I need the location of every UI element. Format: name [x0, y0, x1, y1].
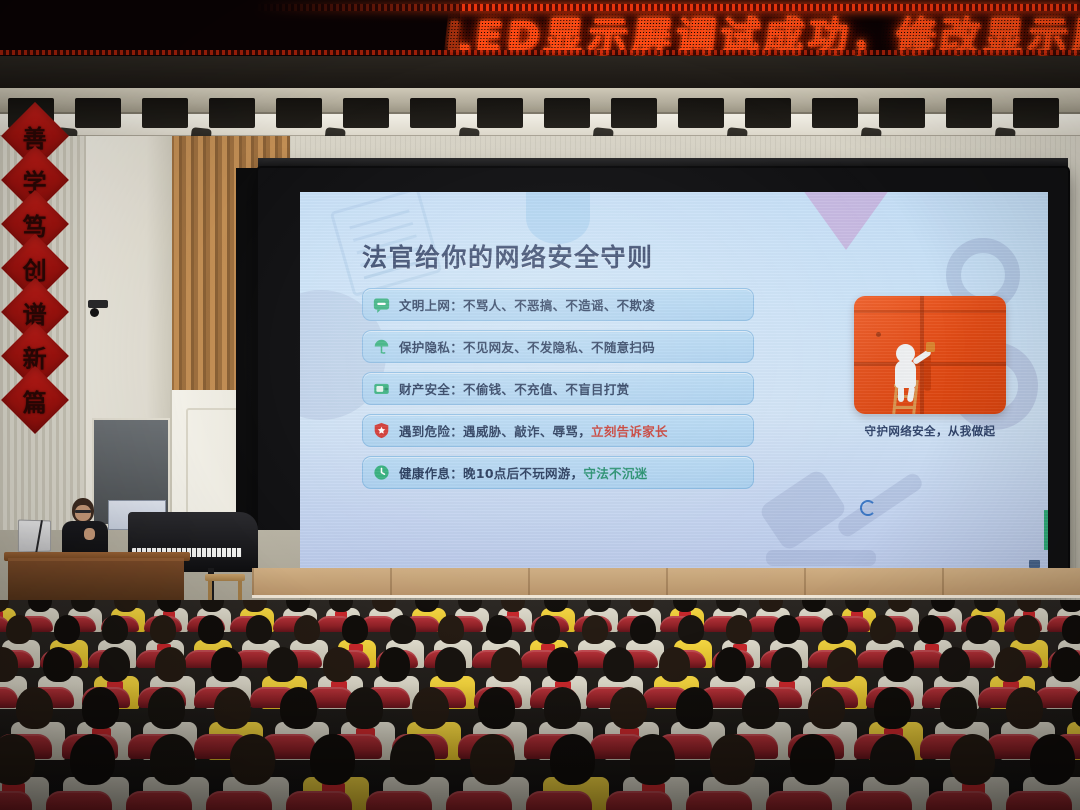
audience-head — [874, 687, 911, 729]
rule-detail: 不骂人、不恶搞、不造谣、不欺凌 — [463, 298, 655, 313]
audience-head — [323, 647, 354, 682]
audience-head — [678, 615, 704, 645]
audience-head — [995, 647, 1026, 682]
audience-head — [676, 687, 713, 729]
stage-light — [544, 98, 590, 128]
rule-detail: 不偷钱、不充值、不盲目打赏 — [463, 382, 629, 397]
rule-item-danger[interactable]: 遇到危险：遇威胁、敲诈、辱骂，立刻告诉家长 — [362, 414, 754, 447]
audience-head — [883, 647, 914, 682]
audience-head — [342, 615, 368, 645]
led-banner-dim-overlay — [0, 0, 460, 56]
audience-head — [544, 687, 581, 729]
audience-head — [412, 687, 449, 729]
paintbrush-icon — [926, 342, 935, 352]
stage-light — [343, 98, 389, 128]
audience-head — [822, 615, 848, 645]
auditorium-seat — [0, 791, 32, 810]
audience-head — [808, 687, 845, 729]
stage-light — [209, 98, 255, 128]
audience-seat-row — [0, 700, 1080, 740]
rule-text: 文明上网：不骂人、不恶搞、不造谣、不欺凌 — [399, 295, 655, 314]
stage-light — [745, 98, 791, 128]
audience-head — [630, 615, 656, 645]
audience-head — [1006, 687, 1043, 729]
audience-head — [390, 734, 435, 785]
stage-light — [678, 98, 724, 128]
audience-seating — [0, 600, 1080, 810]
umbrella-icon — [373, 338, 390, 355]
audience-head — [918, 615, 944, 645]
shield-icon — [373, 422, 390, 439]
presenter-laptop[interactable] — [18, 519, 51, 552]
auditorium-seat — [366, 791, 432, 810]
clock-icon — [373, 464, 390, 481]
audience-head — [43, 647, 74, 682]
audience-head — [70, 734, 115, 785]
audience-head — [715, 647, 746, 682]
auditorium-seat — [766, 791, 832, 810]
illustration-block: 守护网络安全，从我做起 — [854, 296, 1006, 439]
slide-corner-mark — [1029, 560, 1040, 568]
stage-light — [276, 98, 322, 128]
rule-label: 财产安全： — [399, 382, 463, 397]
audience-head — [630, 734, 675, 785]
slide-edge-marker — [1044, 510, 1048, 550]
audience-head — [214, 687, 251, 729]
audience-head — [438, 615, 464, 645]
audience-head — [710, 734, 755, 785]
auditorium-scene: LED显示屏调试成功，修改显示屏默认密 善 学 笃 创 谱 新 篇 — [0, 0, 1080, 810]
chat-bubble-icon — [373, 296, 390, 313]
rule-item-property-safety[interactable]: 财产安全：不偷钱、不充值、不盲目打赏 — [362, 372, 754, 405]
audience-head — [155, 647, 186, 682]
audience-head — [939, 647, 970, 682]
auditorium-seat — [126, 791, 192, 810]
audience-head — [230, 734, 275, 785]
presentation-slide[interactable]: 法官给你的网络安全守则 文明上网：不骂人、不恶搞、不造谣、不欺凌 保护隐私：不见… — [300, 192, 1048, 574]
audience-head — [966, 615, 992, 645]
audience-head — [491, 647, 522, 682]
person-painting-wall-illustration — [854, 296, 1006, 414]
rules-list: 文明上网：不骂人、不恶搞、不造谣、不欺凌 保护隐私：不见网友、不发隐私、不随意扫… — [362, 288, 754, 489]
security-camera-icon — [88, 300, 114, 316]
audience-head — [940, 687, 977, 729]
presenter — [58, 498, 112, 560]
audience-head — [547, 647, 578, 682]
audience-head — [1051, 647, 1080, 682]
decorative-triangle — [800, 192, 892, 250]
stage-light — [142, 98, 188, 128]
audience-head — [870, 734, 915, 785]
rule-text: 财产安全：不偷钱、不充值、不盲目打赏 — [399, 379, 629, 398]
stage-light — [477, 98, 523, 128]
audience-head — [150, 734, 195, 785]
vertical-red-banner: 善 学 笃 创 谱 新 篇 — [6, 112, 64, 530]
rule-text: 遇到危险：遇威胁、敲诈、辱骂，立刻告诉家长 — [399, 421, 668, 440]
stage-light — [611, 98, 657, 128]
audience-head — [470, 734, 515, 785]
rule-label: 文明上网： — [399, 298, 463, 313]
rule-item-healthy-schedule[interactable]: 健康作息：晚10点后不玩网游，守法不沉迷 — [362, 456, 754, 489]
loading-spinner-icon — [860, 500, 876, 516]
audience-head — [582, 615, 608, 645]
auditorium-seat — [846, 791, 912, 810]
audience-head — [726, 615, 752, 645]
audience-head — [99, 647, 130, 682]
rule-label: 遇到危险： — [399, 424, 463, 439]
audience-head — [211, 647, 242, 682]
rule-detail: 遇威胁、敲诈、辱骂， — [463, 424, 591, 439]
auditorium-seat — [526, 791, 592, 810]
rule-highlight: 立刻告诉家长 — [591, 424, 668, 439]
auditorium-seat — [206, 791, 272, 810]
auditorium-seat — [606, 791, 672, 810]
auditorium-seat — [926, 791, 992, 810]
audience-head — [774, 615, 800, 645]
stage-light — [410, 98, 456, 128]
audience-head — [148, 687, 185, 729]
audience-head — [346, 687, 383, 729]
audience-head — [379, 647, 410, 682]
auditorium-seat — [446, 791, 512, 810]
audience-head — [870, 615, 896, 645]
banner-char-label: 篇 — [23, 383, 47, 418]
audience-head — [16, 687, 53, 729]
auditorium-seat — [1006, 791, 1072, 810]
audience-head — [1030, 734, 1075, 785]
decorative-blob — [526, 192, 590, 244]
audience-head — [790, 734, 835, 785]
audience-head — [610, 687, 647, 729]
audience-head — [659, 647, 690, 682]
rule-detail: 晚10点后不玩网游， — [463, 466, 583, 481]
led-banner-text: LED显示屏调试成功，修改显示屏默认密 — [443, 4, 1080, 56]
audience-head — [950, 734, 995, 785]
illustration-caption: 守护网络安全，从我做起 — [854, 423, 1006, 439]
audience-head — [280, 687, 317, 729]
audience-head — [486, 615, 512, 645]
rule-item-protect-privacy[interactable]: 保护隐私：不见网友、不发隐私、不随意扫码 — [362, 330, 754, 363]
audience-head — [742, 687, 779, 729]
rule-detail: 不见网友、不发隐私、不随意扫码 — [463, 340, 655, 355]
audience-head — [267, 647, 298, 682]
rule-label: 保护隐私： — [399, 340, 463, 355]
audience-head — [390, 615, 416, 645]
rule-highlight: 守法不沉迷 — [583, 466, 647, 481]
audience-head — [1062, 615, 1080, 645]
glasses-icon — [75, 510, 91, 513]
rule-label: 健康作息： — [399, 466, 463, 481]
audience-seat-row — [0, 750, 1080, 798]
audience-head — [603, 647, 634, 682]
audience-head — [771, 647, 802, 682]
led-scrolling-banner: LED显示屏调试成功，修改显示屏默认密 — [0, 0, 1080, 56]
audience-head — [102, 615, 128, 645]
audience-head — [294, 615, 320, 645]
audience-head — [534, 615, 560, 645]
auditorium-seat — [286, 791, 352, 810]
stage-light — [879, 98, 925, 128]
audience-head — [1014, 615, 1040, 645]
audience-head — [435, 647, 466, 682]
audience-head — [246, 615, 272, 645]
rule-text: 保护隐私：不见网友、不发隐私、不随意扫码 — [399, 337, 655, 356]
slide-title: 法官给你的网络安全守则 — [362, 238, 654, 274]
stage-light — [75, 98, 121, 128]
rule-text: 健康作息：晚10点后不玩网游，守法不沉迷 — [399, 463, 647, 482]
audience-head — [827, 647, 858, 682]
audience-head — [6, 615, 32, 645]
stage-light — [1013, 98, 1059, 128]
rule-item-civil-internet[interactable]: 文明上网：不骂人、不恶搞、不造谣、不欺凌 — [362, 288, 754, 321]
audience-head — [198, 615, 224, 645]
wallet-icon — [373, 380, 390, 397]
banner-char: 篇 — [1, 366, 69, 434]
stage-light — [946, 98, 992, 128]
stage-light — [812, 98, 858, 128]
stage-step-upper — [252, 568, 1080, 598]
audience-head — [82, 687, 119, 729]
audience-head — [150, 615, 176, 645]
led-strip-bottom — [0, 50, 1080, 55]
auditorium-seat — [686, 791, 752, 810]
audience-head — [550, 734, 595, 785]
audience-head — [478, 687, 515, 729]
audience-head — [54, 615, 80, 645]
audience-head — [310, 734, 355, 785]
auditorium-seat — [46, 791, 112, 810]
